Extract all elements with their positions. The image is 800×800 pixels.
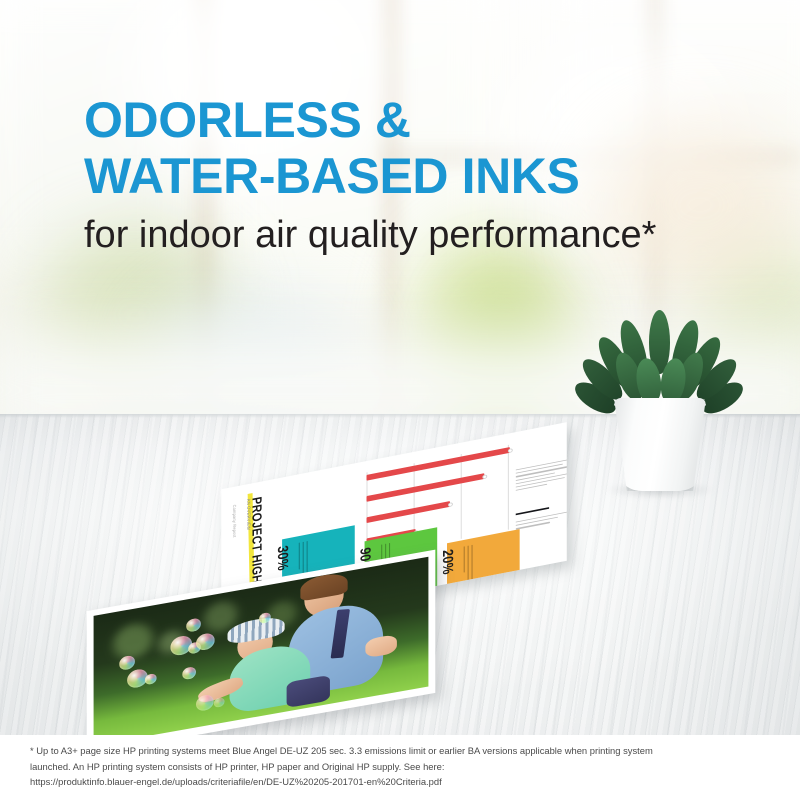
footnote-line-1: * Up to A3+ page size HP printing system… bbox=[30, 743, 780, 759]
chart-bar bbox=[367, 501, 450, 523]
footnote-text: * Up to A3+ page size HP printing system… bbox=[30, 743, 780, 790]
sidebar-text-lines bbox=[516, 511, 567, 532]
soap-bubble bbox=[119, 655, 135, 671]
plant-pot bbox=[614, 398, 706, 491]
kpi-value: 30% bbox=[274, 544, 291, 572]
chart-gridline bbox=[461, 454, 462, 539]
chart-endpoint bbox=[448, 502, 453, 507]
footnote-band: * Up to A3+ page size HP printing system… bbox=[0, 735, 800, 800]
subheadline: for indoor air quality performance* bbox=[84, 212, 656, 258]
headline-line-1: ODORLESS & bbox=[84, 92, 744, 148]
bokeh-light bbox=[113, 621, 152, 662]
soap-bubble bbox=[196, 632, 215, 652]
sidebar-text-lines bbox=[516, 459, 567, 493]
footnote-line-3: https://produktinfo.blauer-engel.de/uplo… bbox=[30, 774, 780, 790]
headline: ODORLESS & WATER-BASED INKS bbox=[84, 92, 744, 204]
chart-endpoint bbox=[508, 448, 513, 453]
sidebar-rule bbox=[516, 507, 549, 515]
brochure-brand: Company Report bbox=[232, 504, 237, 562]
soap-bubble bbox=[145, 673, 157, 685]
kpi-description bbox=[461, 545, 472, 585]
chart-bar bbox=[367, 473, 485, 502]
chart-endpoint bbox=[482, 474, 487, 479]
headline-line-2: WATER-BASED INKS bbox=[84, 148, 744, 204]
footnote-line-2: launched. An HP printing system consists… bbox=[30, 759, 780, 775]
soap-bubble bbox=[186, 617, 201, 632]
potted-plant bbox=[596, 306, 724, 491]
soap-bubble bbox=[214, 697, 225, 708]
chart-gridline bbox=[508, 445, 509, 530]
soap-bubble bbox=[182, 666, 196, 680]
kpi-value: 20% bbox=[439, 548, 456, 576]
marketing-banner: Company Report AN OVERVIEW PROJECT HIGHL… bbox=[0, 0, 800, 800]
